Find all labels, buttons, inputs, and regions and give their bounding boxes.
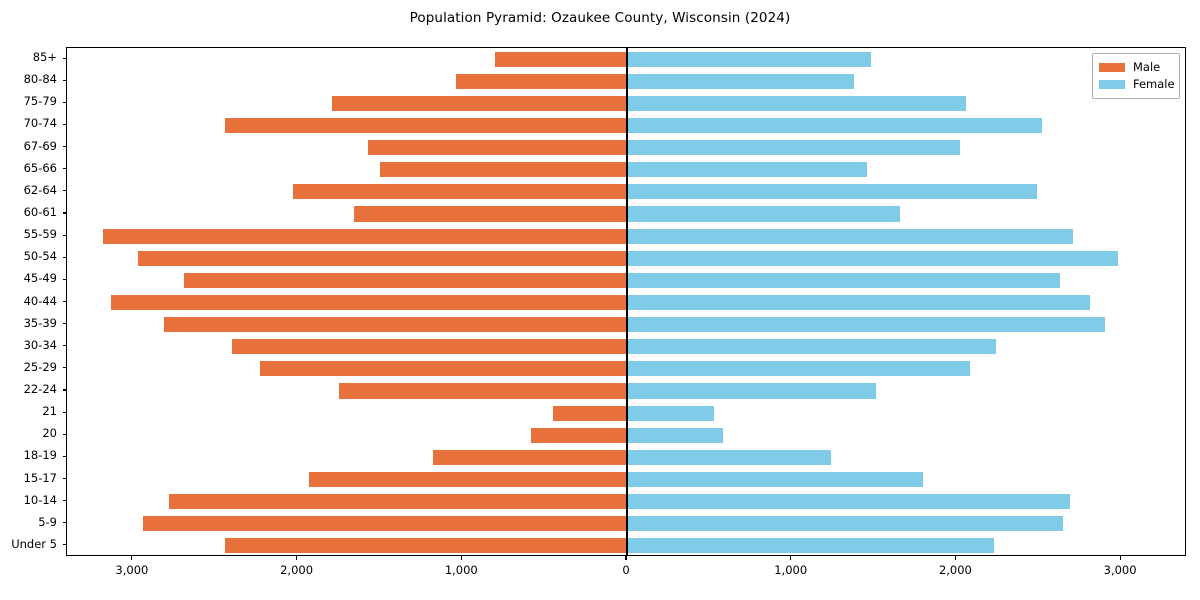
x-tick-mark [1120, 556, 1121, 560]
bar-male [111, 295, 627, 310]
y-tick-label: 50-54 [24, 251, 57, 263]
bar-female [627, 472, 923, 487]
x-tick-label: 3,000 [1104, 563, 1137, 577]
bar-female [627, 428, 723, 443]
bar-male [232, 339, 627, 354]
y-tick-label: 35-39 [24, 318, 57, 330]
bar-male [164, 317, 627, 332]
x-tick-label: 2,000 [280, 563, 313, 577]
y-tick-label: 65-66 [24, 163, 57, 175]
y-tick-label: 18-19 [24, 450, 57, 462]
y-tick-label: 21 [42, 406, 57, 418]
bar-female [627, 339, 996, 354]
y-tick-label: 5-9 [38, 517, 57, 529]
y-tick-label: 60-61 [24, 207, 57, 219]
bar-female [627, 383, 876, 398]
chart-legend: Male Female [1092, 53, 1180, 99]
bar-male [433, 450, 627, 465]
bar-female [627, 74, 854, 89]
bar-male [354, 206, 627, 221]
y-tick-label: 62-64 [24, 185, 57, 197]
bar-female [627, 450, 831, 465]
legend-label-female: Female [1133, 79, 1175, 91]
y-tick-label: 85+ [33, 52, 57, 64]
x-tick-label: 2,000 [939, 563, 972, 577]
legend-label-male: Male [1133, 62, 1160, 74]
bar-male [169, 494, 627, 509]
bar-female [627, 295, 1090, 310]
bar-male [456, 74, 627, 89]
bar-female [627, 317, 1105, 332]
x-tick-mark [131, 556, 132, 560]
bar-female [627, 538, 994, 553]
y-tick-label: 25-29 [24, 362, 57, 374]
population-pyramid-figure: Population Pyramid: Ozaukee County, Wisc… [0, 0, 1200, 600]
x-tick-mark [955, 556, 956, 560]
x-tick-mark [625, 556, 626, 560]
bar-female [627, 494, 1070, 509]
x-tick-mark [790, 556, 791, 560]
bar-male [380, 162, 627, 177]
x-tick-label: 1,000 [445, 563, 478, 577]
plot-area [66, 47, 1186, 556]
bar-female [627, 406, 714, 421]
bar-female [627, 361, 970, 376]
y-tick-label: 20 [42, 428, 57, 440]
bar-male [332, 96, 627, 111]
chart-title: Population Pyramid: Ozaukee County, Wisc… [0, 10, 1200, 26]
y-tick-label: 45-49 [24, 273, 57, 285]
y-tick-label: 80-84 [24, 74, 57, 86]
y-tick-label: 15-17 [24, 473, 57, 485]
x-tick-label: 3,000 [115, 563, 148, 577]
bar-female [627, 184, 1037, 199]
y-tick-label: 70-74 [24, 118, 57, 130]
y-tick-label: 67-69 [24, 141, 57, 153]
bar-female [627, 96, 966, 111]
y-axis: 85+80-8475-7970-7467-6965-6662-6460-6155… [0, 47, 66, 556]
bar-male [103, 229, 627, 244]
bar-female [627, 251, 1118, 266]
bar-male [339, 383, 627, 398]
bar-female [627, 206, 900, 221]
bar-male [225, 538, 627, 553]
x-tick-mark [296, 556, 297, 560]
bar-male [553, 406, 627, 421]
x-tick-label: 1,000 [774, 563, 807, 577]
x-tick-label: 0 [622, 563, 629, 577]
legend-item-male: Male [1099, 59, 1173, 76]
bar-male [143, 516, 627, 531]
bar-male [531, 428, 627, 443]
bar-female [627, 52, 871, 67]
bar-female [627, 140, 960, 155]
bar-female [627, 273, 1060, 288]
bar-female [627, 162, 867, 177]
y-tick-label: Under 5 [11, 539, 57, 551]
bar-male [368, 140, 627, 155]
zero-axis-line [626, 48, 627, 555]
y-tick-label: 10-14 [24, 495, 57, 507]
bar-male [138, 251, 627, 266]
bar-male [225, 118, 627, 133]
bar-female [627, 118, 1042, 133]
bar-male [309, 472, 627, 487]
y-tick-label: 22-24 [24, 384, 57, 396]
y-tick-label: 40-44 [24, 296, 57, 308]
legend-swatch-male [1099, 63, 1125, 72]
legend-swatch-female [1099, 80, 1125, 89]
legend-item-female: Female [1099, 76, 1173, 93]
bar-female [627, 516, 1063, 531]
bar-male [293, 184, 627, 199]
y-tick-label: 55-59 [24, 229, 57, 241]
bar-female [627, 229, 1073, 244]
bar-male [495, 52, 627, 67]
y-tick-label: 75-79 [24, 96, 57, 108]
x-axis: 3,0002,0001,00001,0002,0003,000 [66, 556, 1186, 596]
x-tick-mark [461, 556, 462, 560]
bar-male [260, 361, 627, 376]
y-tick-label: 30-34 [24, 340, 57, 352]
bar-male [184, 273, 627, 288]
